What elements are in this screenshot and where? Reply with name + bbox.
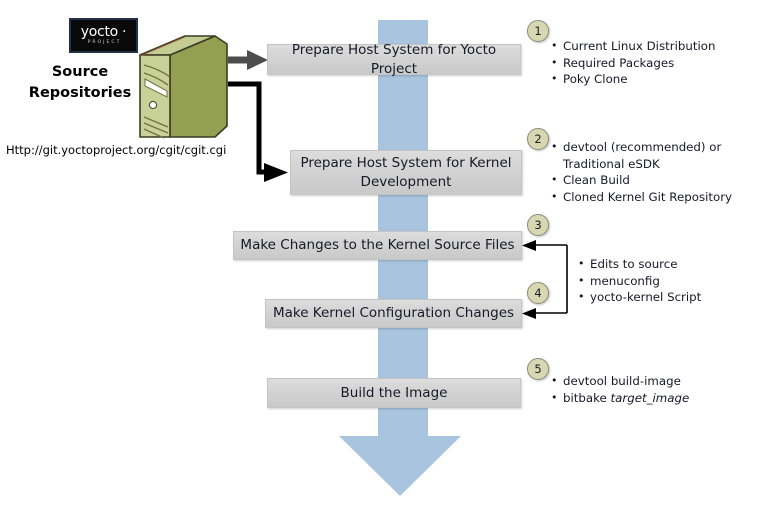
connector-source-to-step1 — [228, 50, 268, 70]
process-box-step-1[interactable]: Prepare Host System for Yocto Project — [267, 44, 521, 75]
process-box-label: Make Changes to the Kernel Source Files — [240, 236, 514, 255]
step-badge-3: 3 — [527, 214, 549, 236]
bullet-item: yocto-kernel Script — [578, 289, 768, 306]
source-repositories-label: Source Repositories — [20, 62, 140, 104]
bullet-item: devtool (recommended) or Traditional eSD… — [551, 139, 766, 172]
bullet-item: menuconfig — [578, 273, 768, 290]
bullet-item: bitbake target_image — [551, 390, 766, 407]
server-tower-icon — [140, 36, 227, 144]
bullet-command-prefix: bitbake — [563, 391, 611, 405]
bullet-item: devtool build-image — [551, 373, 766, 390]
connector-source-to-step2 — [228, 84, 288, 182]
step-badge-2: 2 — [527, 128, 549, 150]
step-badge-number: 3 — [534, 218, 541, 232]
step-badge-4: 4 — [527, 282, 549, 304]
bullet-item: Edits to source — [578, 256, 768, 273]
process-box-step-2[interactable]: Prepare Host System for Kernel Developme… — [290, 150, 522, 195]
yocto-project-logo: yocto · PROJECT — [69, 18, 138, 53]
process-box-label: Prepare Host System for Yocto Project — [268, 41, 520, 79]
main-flow-arrow-head — [339, 436, 461, 496]
process-box-label: Build the Image — [341, 384, 448, 403]
bullet-item: Cloned Kernel Git Repository — [551, 189, 766, 206]
bullet-command-argument: target_image — [611, 391, 690, 405]
step-badge-5: 5 — [527, 358, 549, 380]
process-box-label: Make Kernel Configuration Changes — [273, 304, 514, 323]
bullet-item: Required Packages — [551, 55, 766, 72]
yocto-logo-word: yocto · — [81, 25, 126, 39]
bullet-item: Clean Build — [551, 172, 766, 189]
process-box-step-5[interactable]: Build the Image — [267, 378, 521, 408]
source-repositories-url: Http://git.yoctoproject.org/cgit/cgit.cg… — [6, 143, 226, 157]
process-box-step-3[interactable]: Make Changes to the Kernel Source Files — [233, 231, 522, 260]
bullet-item: Poky Clone — [551, 71, 766, 88]
yocto-logo-subtitle: PROJECT — [86, 41, 122, 46]
process-box-step-4[interactable]: Make Kernel Configuration Changes — [265, 299, 522, 328]
step-badge-1: 1 — [527, 20, 549, 42]
main-flow-arrow-shaft — [378, 20, 428, 438]
step-badge-number: 5 — [534, 362, 541, 376]
step-badge-number: 4 — [534, 286, 541, 300]
step-1-bullet-list: Current Linux Distribution Required Pack… — [551, 38, 766, 88]
connector-bullets-to-step3-step4 — [522, 240, 567, 319]
step-badge-number: 1 — [534, 24, 541, 38]
step-3-and-4-bullet-list: Edits to source menuconfig yocto-kernel … — [578, 256, 768, 306]
step-2-bullet-list: devtool (recommended) or Traditional eSD… — [551, 139, 766, 205]
bullet-item: Current Linux Distribution — [551, 38, 766, 55]
step-5-bullet-list: devtool build-image bitbake target_image — [551, 373, 766, 406]
process-box-label: Prepare Host System for Kernel Developme… — [300, 154, 511, 192]
step-badge-number: 2 — [534, 132, 541, 146]
